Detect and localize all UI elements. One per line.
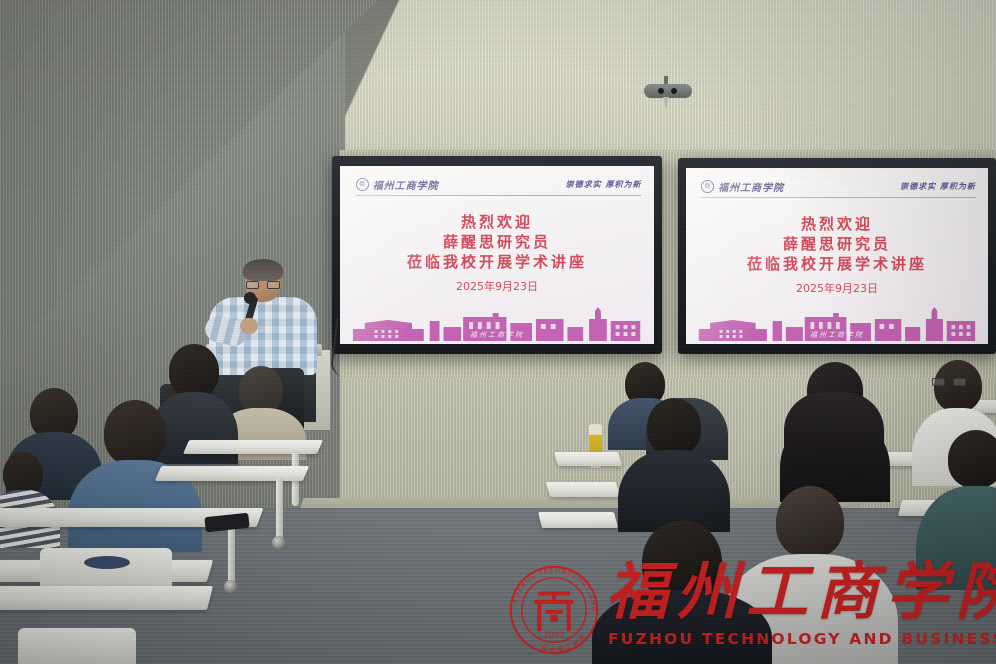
attendee-shoulders xyxy=(592,590,772,664)
speaker-hand xyxy=(240,318,258,334)
desk-leg xyxy=(276,478,283,540)
welcome-slide-left: 商 福州工商学院 崇德求实 厚积为新 热烈欢迎 薛醒思研究员 莅临我校开展学术讲… xyxy=(340,166,654,344)
attendee-black-shirt xyxy=(618,398,730,532)
slide-body: 热烈欢迎 薛醒思研究员 莅临我校开展学术讲座 2025年9月23日 xyxy=(340,212,654,294)
brand-seal-icon: 商 xyxy=(356,178,369,191)
slide-date: 2025年9月23日 xyxy=(340,278,654,294)
campus-skyline-graphic: 福州工商学院 xyxy=(349,307,644,341)
mobile-training-desk xyxy=(0,586,213,610)
long-hair xyxy=(784,392,884,488)
skyline-caption: 福州工商学院 xyxy=(470,330,524,340)
wall-sensor-icon xyxy=(644,84,692,98)
slide-line-3: 莅临我校开展学术讲座 xyxy=(340,252,654,273)
attendee-teal-shirt xyxy=(916,430,996,590)
mobile-training-desk xyxy=(155,466,310,481)
attendee-head xyxy=(948,430,996,488)
brand-seal-icon: 商 xyxy=(701,180,714,193)
attendee-head xyxy=(647,398,701,456)
lecture-hall-photo: 商 福州工商学院 崇德求实 厚积为新 热烈欢迎 薛醒思研究员 莅临我校开展学术讲… xyxy=(0,0,996,664)
welcome-slide-right: 商 福州工商学院 崇德求实 厚积为新 热烈欢迎 薛醒思研究员 莅临我校开展学术讲… xyxy=(686,168,988,344)
slide-line-2: 薛醒思研究员 xyxy=(340,232,654,252)
attendee-head xyxy=(169,344,219,398)
microphone-capsule xyxy=(244,292,256,304)
slide-date: 2025年9月23日 xyxy=(686,280,988,296)
mobile-training-desk xyxy=(546,482,620,497)
slide-brand: 商 福州工商学院 xyxy=(356,177,439,192)
right-display-screen[interactable]: 商 福州工商学院 崇德求实 厚积为新 热烈欢迎 薛醒思研究员 莅临我校开展学术讲… xyxy=(678,158,996,354)
desk-caster xyxy=(272,536,285,549)
slide-motto-text: 崇德求实 厚积为新 xyxy=(900,181,976,192)
slide-header: 商 福州工商学院 崇德求实 厚积为新 xyxy=(356,177,642,196)
slide-body-right: 热烈欢迎 薛醒思研究员 莅临我校开展学术讲座 2025年9月23日 xyxy=(686,214,988,296)
slide-brand-right: 商 福州工商学院 xyxy=(701,179,784,194)
slide-line-2: 薛醒思研究员 xyxy=(686,234,988,254)
left-display-screen[interactable]: 商 福州工商学院 崇德求实 厚积为新 热烈欢迎 薛醒思研究员 莅临我校开展学术讲… xyxy=(332,156,662,354)
attendee-head xyxy=(776,486,844,558)
slide-header-right: 商 福州工商学院 崇德求实 厚积为新 xyxy=(701,179,976,198)
mobile-training-desk xyxy=(554,452,622,466)
brand-name-text: 福州工商学院 xyxy=(718,179,784,194)
attendee-head xyxy=(104,400,166,466)
attendee-front-dark xyxy=(592,520,772,664)
desk-leg xyxy=(228,522,235,584)
attendee-head xyxy=(665,356,709,404)
glasses-icon xyxy=(246,281,280,290)
cable-grommet xyxy=(84,556,130,569)
slide-line-1: 热烈欢迎 xyxy=(340,212,654,232)
attendee-shoulders xyxy=(916,486,996,590)
glasses-icon xyxy=(932,378,966,387)
desk-caster xyxy=(224,580,237,593)
speaker-hair xyxy=(243,259,283,281)
slide-line-1: 热烈欢迎 xyxy=(686,214,988,234)
slide-motto-text: 崇德求实 厚积为新 xyxy=(566,179,642,190)
conference-chair xyxy=(18,628,136,664)
brand-name-text: 福州工商学院 xyxy=(373,177,439,192)
skyline-caption: 福州工商学院 xyxy=(810,330,864,340)
slide-line-3: 莅临我校开展学术讲座 xyxy=(686,254,988,275)
attendee-striped-shirt xyxy=(0,452,60,548)
mobile-training-desk xyxy=(183,440,323,454)
attendee-head xyxy=(239,366,283,414)
campus-skyline-graphic-right: 福州工商学院 xyxy=(695,307,979,341)
